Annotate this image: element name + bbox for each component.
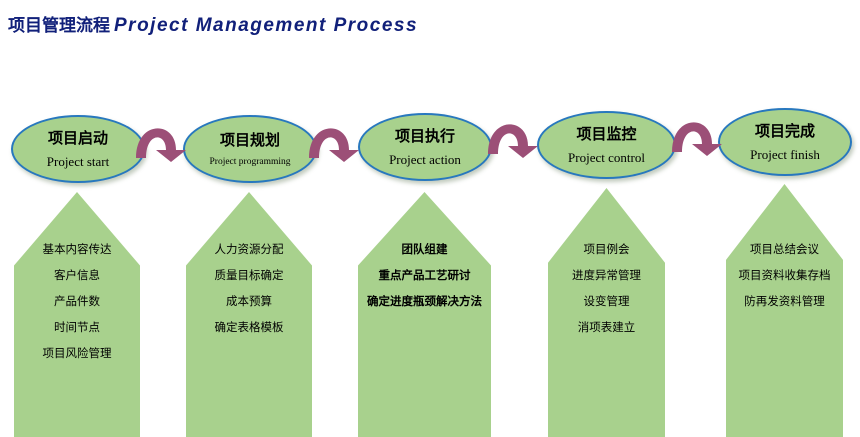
curved-arrow-right-icon bbox=[668, 106, 728, 156]
stage-label-cn: 项目启动 bbox=[48, 129, 108, 147]
list-item: 项目资料收集存档 bbox=[726, 269, 843, 282]
list-item: 客户信息 bbox=[14, 269, 140, 282]
stage-item-list: 项目例会 进度异常管理 设变管理 消项表建立 bbox=[548, 243, 665, 347]
list-item: 产品件数 bbox=[14, 295, 140, 308]
list-item: 团队组建 bbox=[358, 243, 491, 256]
list-item: 质量目标确定 bbox=[186, 269, 312, 282]
stage-ellipse-project-start[interactable]: 项目启动 Project start bbox=[11, 115, 145, 183]
stage-ellipse-project-finish[interactable]: 项目完成 Project finish bbox=[718, 108, 852, 176]
curved-arrow-right-icon bbox=[305, 112, 365, 162]
list-item: 重点产品工艺研讨 bbox=[358, 269, 491, 282]
list-item: 项目风险管理 bbox=[14, 347, 140, 360]
list-item: 项目总结会议 bbox=[726, 243, 843, 256]
stage-item-list: 项目总结会议 项目资料收集存档 防再发资料管理 bbox=[726, 243, 843, 321]
list-item: 时间节点 bbox=[14, 321, 140, 334]
connector-4 bbox=[668, 106, 728, 156]
connector-3 bbox=[484, 108, 544, 158]
list-item: 成本预算 bbox=[186, 295, 312, 308]
stage-project-programming[interactable]: 人力资源分配 质量目标确定 成本预算 确定表格模板 项目规划 Project p… bbox=[186, 0, 312, 437]
stage-label-en: Project start bbox=[47, 154, 109, 170]
stage-item-list: 基本内容传达 客户信息 产品件数 时间节点 项目风险管理 bbox=[14, 243, 140, 373]
stage-label-en: Project finish bbox=[750, 147, 820, 163]
stage-project-start[interactable]: 基本内容传达 客户信息 产品件数 时间节点 项目风险管理 项目启动 Projec… bbox=[14, 0, 140, 437]
stage-project-action[interactable]: 团队组建 重点产品工艺研讨 确定进度瓶颈解决方法 项目执行 Project ac… bbox=[358, 0, 491, 437]
list-item: 人力资源分配 bbox=[186, 243, 312, 256]
stage-label-cn: 项目规划 bbox=[220, 131, 280, 149]
list-item: 进度异常管理 bbox=[548, 269, 665, 282]
list-item: 项目例会 bbox=[548, 243, 665, 256]
list-item: 设变管理 bbox=[548, 295, 665, 308]
stage-project-control[interactable]: 项目例会 进度异常管理 设变管理 消项表建立 项目监控 Project cont… bbox=[548, 0, 665, 437]
process-diagram: 项目管理流程Project Management Process 基本内容传达 … bbox=[0, 0, 860, 437]
stage-ellipse-project-programming[interactable]: 项目规划 Project programming bbox=[183, 115, 317, 183]
curved-arrow-right-icon bbox=[484, 108, 544, 158]
connector-2 bbox=[305, 112, 365, 162]
list-item: 确定进度瓶颈解决方法 bbox=[358, 295, 491, 308]
list-item: 防再发资料管理 bbox=[726, 295, 843, 308]
stage-label-cn: 项目执行 bbox=[395, 127, 455, 145]
stage-ellipse-project-control[interactable]: 项目监控 Project control bbox=[537, 111, 676, 179]
stage-label-en: Project action bbox=[389, 152, 461, 168]
stage-label-cn: 项目完成 bbox=[755, 122, 815, 140]
list-item: 基本内容传达 bbox=[14, 243, 140, 256]
curved-arrow-right-icon bbox=[132, 112, 192, 162]
stage-project-finish[interactable]: 项目总结会议 项目资料收集存档 防再发资料管理 项目完成 Project fin… bbox=[726, 0, 843, 437]
stage-ellipse-project-action[interactable]: 项目执行 Project action bbox=[358, 113, 492, 181]
stage-item-list: 人力资源分配 质量目标确定 成本预算 确定表格模板 bbox=[186, 243, 312, 347]
stage-label-en: Project control bbox=[568, 150, 645, 166]
stage-label-cn: 项目监控 bbox=[576, 125, 636, 143]
stage-label-en: Project programming bbox=[210, 156, 291, 168]
stage-item-list: 团队组建 重点产品工艺研讨 确定进度瓶颈解决方法 bbox=[358, 243, 491, 321]
list-item: 消项表建立 bbox=[548, 321, 665, 334]
connector-1 bbox=[132, 112, 192, 162]
list-item: 确定表格模板 bbox=[186, 321, 312, 334]
